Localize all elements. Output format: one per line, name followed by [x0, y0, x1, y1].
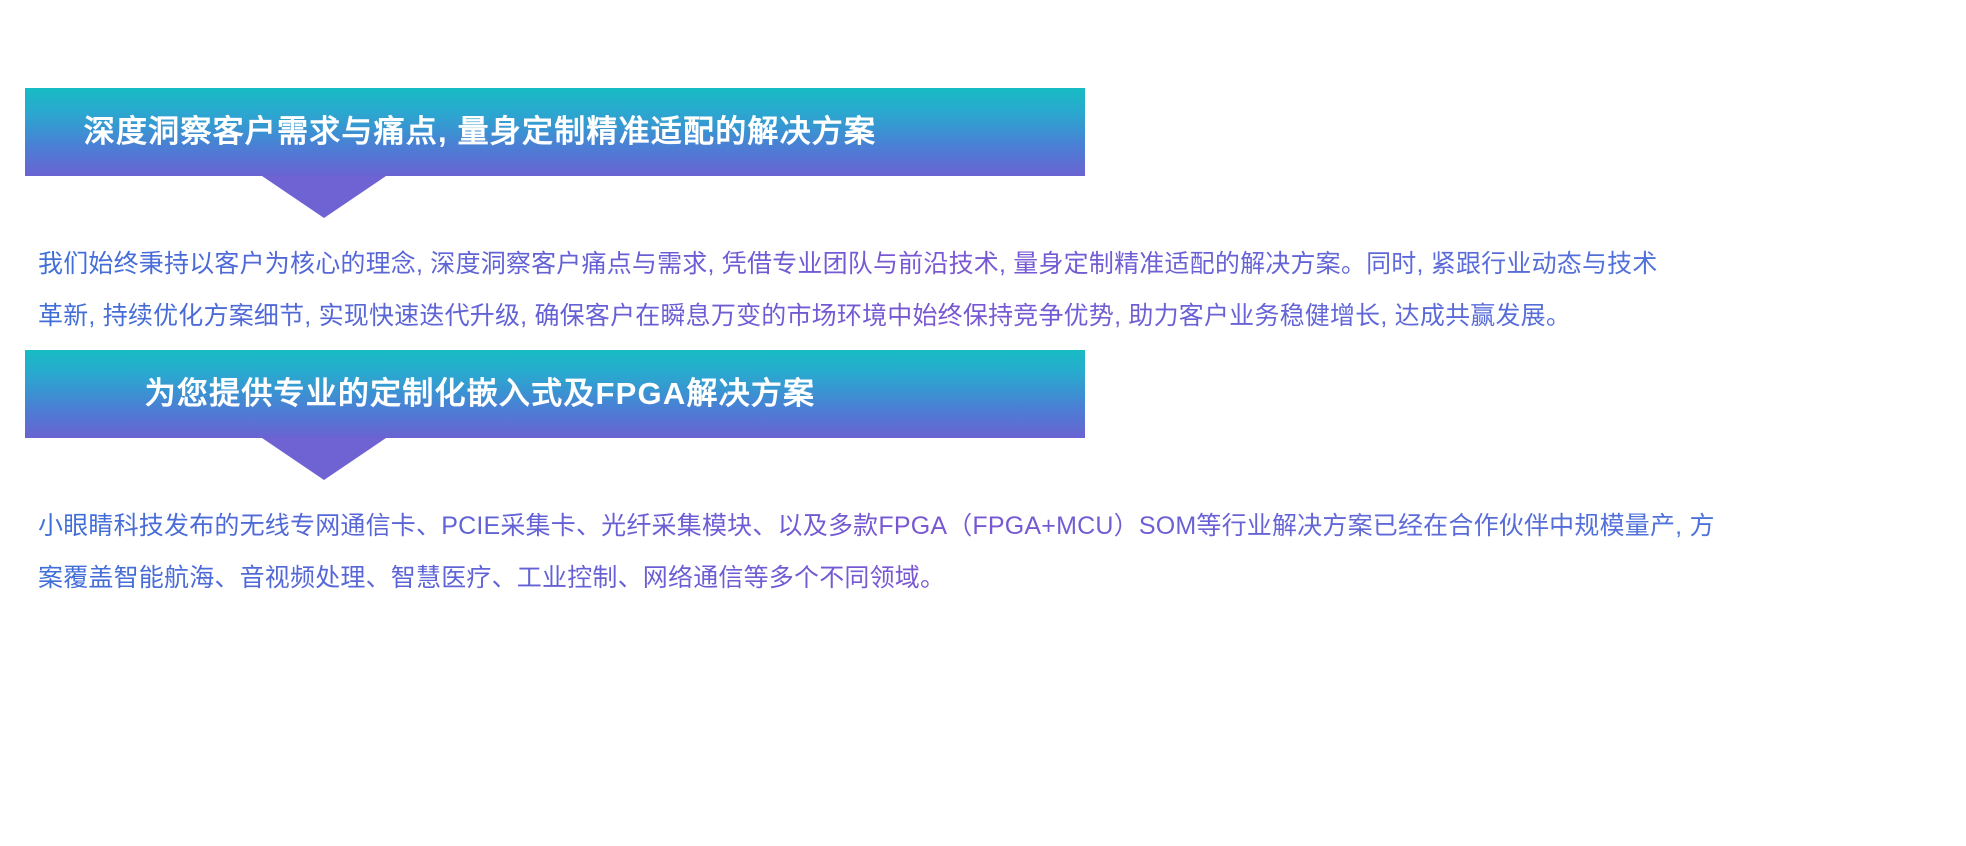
paragraph-1-line-1: 我们始终秉持以客户为核心的理念, 深度洞察客户痛点与需求, 凭借专业团队与前沿技…: [38, 238, 1933, 290]
banner-2-notch-triangle-icon: [262, 438, 386, 480]
banner-1-title: 深度洞察客户需求与痛点, 量身定制精准适配的解决方案: [25, 88, 1085, 176]
section-2: 为您提供专业的定制化嵌入式及FPGA解决方案 小眼睛科技发布的无线专网通信卡、P…: [0, 350, 1966, 604]
paragraph-2-line-2: 案覆盖智能航海、音视频处理、智慧医疗、工业控制、网络通信等多个不同领域。: [38, 552, 1933, 604]
paragraph-1: 我们始终秉持以客户为核心的理念, 深度洞察客户痛点与需求, 凭借专业团队与前沿技…: [38, 238, 1933, 342]
paragraph-2-line-1: 小眼睛科技发布的无线专网通信卡、PCIE采集卡、光纤采集模块、以及多款FPGA（…: [38, 500, 1933, 552]
section-1: 深度洞察客户需求与痛点, 量身定制精准适配的解决方案 我们始终秉持以客户为核心的…: [0, 88, 1966, 342]
banner-2: 为您提供专业的定制化嵌入式及FPGA解决方案: [25, 350, 1085, 455]
paragraph-2: 小眼睛科技发布的无线专网通信卡、PCIE采集卡、光纤采集模块、以及多款FPGA（…: [38, 500, 1933, 604]
banner-1-bar: 深度洞察客户需求与痛点, 量身定制精准适配的解决方案: [25, 88, 1085, 176]
page-root: 深度洞察客户需求与痛点, 量身定制精准适配的解决方案 我们始终秉持以客户为核心的…: [0, 0, 1966, 846]
banner-1: 深度洞察客户需求与痛点, 量身定制精准适配的解决方案: [25, 88, 1085, 193]
paragraph-1-line-2: 革新, 持续优化方案细节, 实现快速迭代升级, 确保客户在瞬息万变的市场环境中始…: [38, 290, 1933, 342]
banner-2-bar: 为您提供专业的定制化嵌入式及FPGA解决方案: [25, 350, 1085, 438]
banner-2-title: 为您提供专业的定制化嵌入式及FPGA解决方案: [25, 350, 1085, 438]
banner-1-notch-triangle-icon: [262, 176, 386, 218]
